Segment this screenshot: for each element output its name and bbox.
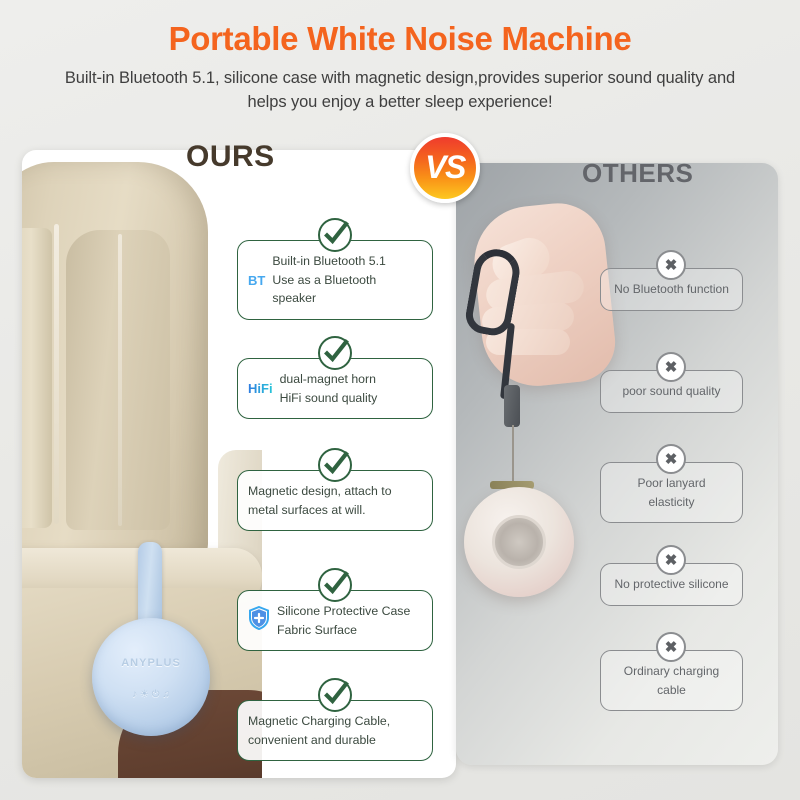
ours-feature-text: Built-in Bluetooth 5.1Use as a Bluetooth… bbox=[272, 252, 422, 308]
page-subtitle: Built-in Bluetooth 5.1, silicone case wi… bbox=[0, 67, 800, 115]
drawback-line: No Bluetooth function bbox=[614, 280, 729, 299]
white-noise-device: ANYPLUS ♪ ☀ ⏻ ♫ bbox=[92, 618, 210, 736]
others-heading: OTHERS bbox=[582, 158, 693, 189]
check-icon bbox=[318, 448, 352, 482]
device-control-icons: ♪ ☀ ⏻ ♫ bbox=[132, 689, 170, 700]
feature-line: metal surfaces at will. bbox=[248, 501, 392, 520]
check-icon bbox=[318, 678, 352, 712]
close-icon: ✖ bbox=[656, 352, 686, 382]
ours-feature-text: Silicone Protective CaseFabric Surface bbox=[277, 602, 410, 639]
others-drawback-text: No Bluetooth function bbox=[614, 280, 729, 299]
check-icon bbox=[318, 218, 352, 252]
feature-line: Magnetic Charging Cable, bbox=[248, 712, 390, 731]
others-drawback-text: No protective silicone bbox=[614, 575, 728, 594]
header: Portable White Noise Machine Built-in Bl… bbox=[0, 0, 800, 115]
device-brand-label: ANYPLUS bbox=[121, 657, 181, 669]
hifi-badge: HiFi bbox=[248, 381, 273, 396]
drawback-line: cable bbox=[624, 681, 719, 700]
close-icon: ✖ bbox=[656, 632, 686, 662]
close-icon: ✖ bbox=[656, 250, 686, 280]
check-icon bbox=[318, 568, 352, 602]
ours-feature-text: Magnetic Charging Cable,convenient and d… bbox=[248, 712, 390, 749]
feature-line: convenient and durable bbox=[248, 731, 390, 750]
chair-wing-left bbox=[22, 228, 52, 528]
competitor-device-speaker-ring bbox=[492, 515, 546, 569]
others-drawback-text: Ordinary chargingcable bbox=[624, 662, 719, 699]
competitor-device bbox=[464, 487, 574, 597]
feature-line: Silicone Protective Case bbox=[277, 602, 410, 621]
feature-line: HiFi sound quality bbox=[280, 389, 378, 408]
chair-product-photo: ANYPLUS ♪ ☀ ⏻ ♫ bbox=[22, 150, 262, 778]
close-icon: ✖ bbox=[656, 545, 686, 575]
close-icon: ✖ bbox=[656, 444, 686, 474]
ours-feature-text: Magnetic design, attach tometal surfaces… bbox=[248, 482, 392, 519]
vs-label: VS bbox=[425, 151, 465, 183]
feature-line: Use as a Bluetooth speaker bbox=[272, 271, 422, 308]
others-drawback-text: Poor lanyardelasticity bbox=[637, 474, 705, 511]
stretched-elastic-string bbox=[512, 425, 514, 485]
ours-heading: OURS bbox=[186, 140, 275, 174]
page-title: Portable White Noise Machine bbox=[0, 22, 800, 55]
bluetooth-badge: BT bbox=[248, 273, 265, 288]
feature-line: Fabric Surface bbox=[277, 621, 410, 640]
lanyard-clasp bbox=[504, 385, 520, 427]
drawback-line: No protective silicone bbox=[614, 575, 728, 594]
others-drawback-text: poor sound quality bbox=[622, 382, 720, 401]
vs-badge: VS bbox=[410, 133, 480, 203]
shield-icon bbox=[248, 606, 270, 635]
ours-feature-box: BTBuilt-in Bluetooth 5.1Use as a Bluetoo… bbox=[237, 240, 433, 320]
chair-piping bbox=[54, 224, 59, 524]
drawback-line: elasticity bbox=[637, 493, 705, 512]
feature-line: dual-magnet horn bbox=[280, 370, 378, 389]
feature-line: Magnetic design, attach to bbox=[248, 482, 392, 501]
drawback-line: Poor lanyard bbox=[637, 474, 705, 493]
ours-feature-text: dual-magnet hornHiFi sound quality bbox=[280, 370, 378, 407]
drawback-line: poor sound quality bbox=[622, 382, 720, 401]
drawback-line: Ordinary charging bbox=[624, 662, 719, 681]
check-icon bbox=[318, 336, 352, 370]
feature-line: Built-in Bluetooth 5.1 bbox=[272, 252, 422, 271]
chair-seam bbox=[118, 234, 122, 526]
